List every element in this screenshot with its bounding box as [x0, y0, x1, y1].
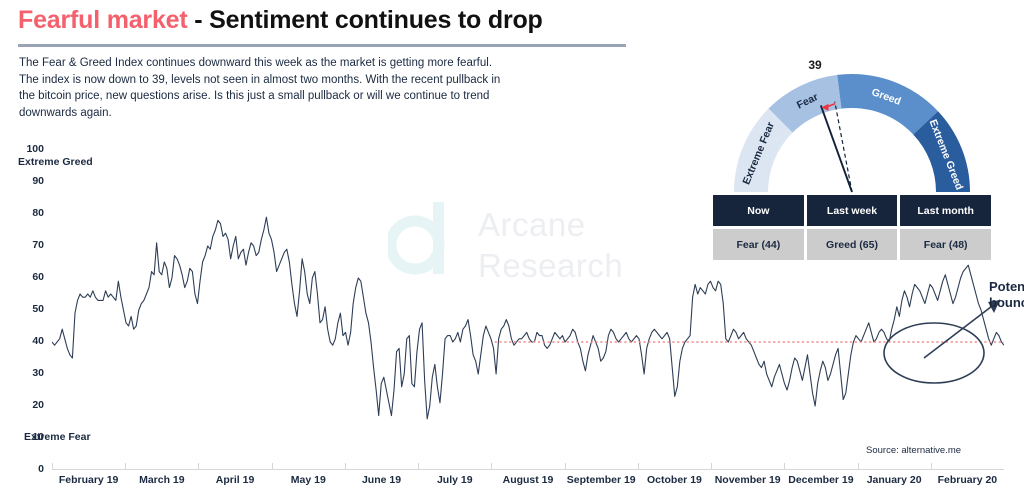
gauge-dial: Extreme FearFearGreedExtreme Greed — [713, 70, 991, 200]
y-tick-90: 90 — [18, 175, 44, 187]
gauge-table-header-last-month: Last month — [900, 195, 991, 226]
intro-line-1: The Fear & Greed Index continues downwar… — [19, 55, 709, 72]
y-tick-100: 100 — [18, 143, 44, 155]
annotation-line-2: bounce — [989, 295, 1024, 311]
report-page: Fearful market - Sentiment continues to … — [0, 0, 1024, 497]
header: Fearful market - Sentiment continues to … — [18, 6, 1008, 35]
y-tick-70: 70 — [18, 239, 44, 251]
gauge-table-header-last-week: Last week — [807, 195, 898, 226]
intro-line-3: the bitcoin price, new questions arise. … — [19, 88, 709, 105]
gauge-table-value-last-month: Fear (48) — [900, 229, 991, 260]
y-tick-20: 20 — [18, 399, 44, 411]
y-tick-60: 60 — [18, 271, 44, 283]
intro-line-4: downwards again. — [19, 105, 709, 122]
y-tick-30: 30 — [18, 367, 44, 379]
y-tick-50: 50 — [18, 303, 44, 315]
intro-line-2: The index is now down to 39, levels not … — [19, 72, 709, 89]
page-title: Fearful market - Sentiment continues to … — [18, 6, 1008, 35]
gauge-table-value-now: Fear (44) — [713, 229, 804, 260]
fear-greed-gauge: 39 Extreme FearFearGreedExtreme Greed No… — [713, 58, 991, 268]
source-note: Source: alternative.me — [866, 445, 961, 456]
intro-paragraph: The Fear & Greed Index continues downwar… — [19, 55, 709, 121]
y-tick-10: 10 — [18, 431, 44, 443]
gauge-summary-table: NowLast weekLast month Fear (44)Greed (6… — [713, 195, 991, 260]
title-divider — [18, 44, 626, 47]
x-axis-label-february-20: February 20 — [917, 474, 1017, 486]
gauge-table-header-now: Now — [713, 195, 804, 226]
y-tick-40: 40 — [18, 335, 44, 347]
y-tick-80: 80 — [18, 207, 44, 219]
gauge-needle-previous — [835, 102, 852, 192]
gauge-table-value-row: Fear (44)Greed (65)Fear (48) — [713, 229, 991, 260]
gauge-table-header-row: NowLast weekLast month — [713, 195, 991, 226]
gauge-needle-current — [821, 105, 852, 192]
gauge-table-value-last-week: Greed (65) — [807, 229, 898, 260]
annotation-line-1: Potential — [989, 279, 1024, 295]
highlight-ellipse — [884, 323, 984, 383]
page-title-highlight: Fearful market — [18, 6, 188, 34]
page-title-rest: - Sentiment continues to drop — [188, 6, 543, 34]
potential-bounce-annotation: Potential bounce — [989, 279, 1024, 311]
